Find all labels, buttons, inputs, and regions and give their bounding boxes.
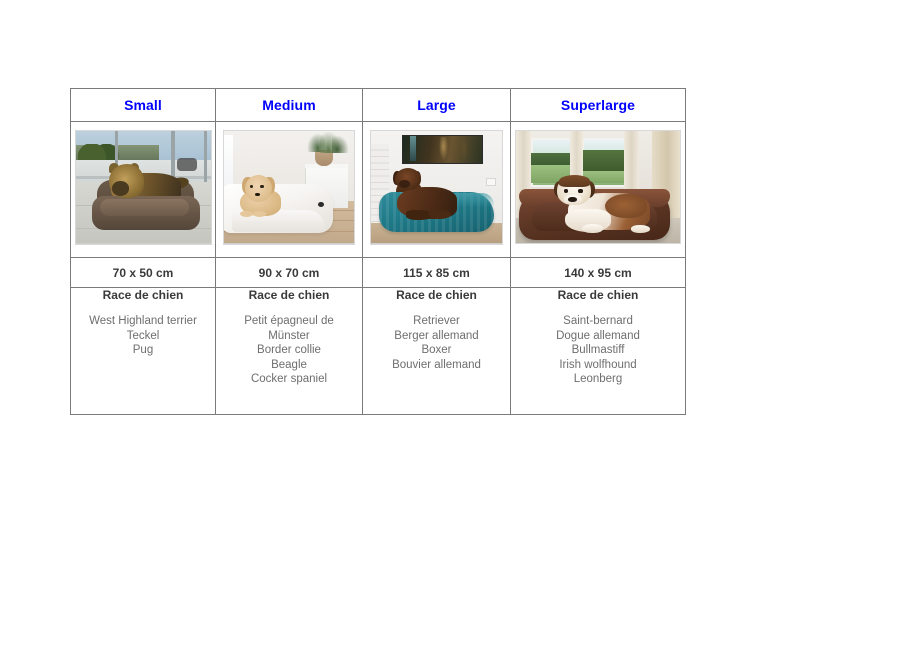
breed-list: RetrieverBerger allemandBoxerBouvier all… xyxy=(363,314,510,372)
breed-item: Border collie xyxy=(216,343,362,358)
breed-title: Race de chien xyxy=(511,288,685,302)
header-cell-medium: Medium xyxy=(216,89,363,122)
table-photo-row xyxy=(71,122,686,258)
dimension-cell-superlarge: 140 x 95 cm xyxy=(511,258,686,288)
dimension-label: 90 x 70 cm xyxy=(216,266,362,280)
header-cell-superlarge: Superlarge xyxy=(511,89,686,122)
table-dimension-row: 70 x 50 cm 90 x 70 cm 115 x 85 cm 140 x … xyxy=(71,258,686,288)
photo-cell-large xyxy=(363,122,511,258)
medium-dog-bed-photo xyxy=(223,130,355,245)
breed-cell-large: Race de chien RetrieverBerger allemandBo… xyxy=(363,288,511,415)
breed-item: Pug xyxy=(71,343,215,358)
dimension-cell-large: 115 x 85 cm xyxy=(363,258,511,288)
breed-item: Irish wolfhound xyxy=(511,358,685,373)
breed-list: Saint-bernardDogue allemandBullmastiffIr… xyxy=(511,314,685,387)
breed-title: Race de chien xyxy=(363,288,510,302)
breed-item: Saint-bernard xyxy=(511,314,685,329)
breed-cell-superlarge: Race de chien Saint-bernardDogue alleman… xyxy=(511,288,686,415)
dimension-cell-small: 70 x 50 cm xyxy=(71,258,216,288)
breed-item: West Highland terrier xyxy=(71,314,215,329)
large-dog-bed-photo xyxy=(370,130,503,245)
size-header-label: Small xyxy=(71,97,215,113)
breed-title: Race de chien xyxy=(216,288,362,302)
breed-cell-medium: Race de chien Petit épagneul de MünsterB… xyxy=(216,288,363,415)
breed-title: Race de chien xyxy=(71,288,215,302)
breed-list: Petit épagneul de MünsterBorder collieBe… xyxy=(216,314,362,387)
dimension-label: 70 x 50 cm xyxy=(71,266,215,280)
size-header-label: Medium xyxy=(216,97,362,113)
table-breed-row: Race de chien West Highland terrierTecke… xyxy=(71,288,686,415)
breed-item: Petit épagneul de Münster xyxy=(216,314,362,343)
breed-cell-small: Race de chien West Highland terrierTecke… xyxy=(71,288,216,415)
breed-item: Retriever xyxy=(363,314,510,329)
photo-cell-medium xyxy=(216,122,363,258)
breed-item: Boxer xyxy=(363,343,510,358)
photo-cell-small xyxy=(71,122,216,258)
small-dog-bed-photo xyxy=(75,130,212,245)
breed-item: Leonberg xyxy=(511,372,685,387)
dimension-label: 140 x 95 cm xyxy=(511,266,685,280)
breed-item: Cocker spaniel xyxy=(216,372,362,387)
dimension-label: 115 x 85 cm xyxy=(363,266,510,280)
size-header-label: Large xyxy=(363,97,510,113)
superlarge-dog-bed-photo xyxy=(515,130,681,244)
breed-item: Dogue allemand xyxy=(511,329,685,344)
size-header-label: Superlarge xyxy=(511,97,685,113)
breed-item: Beagle xyxy=(216,358,362,373)
breed-list: West Highland terrierTeckelPug xyxy=(71,314,215,358)
header-cell-small: Small xyxy=(71,89,216,122)
photo-cell-superlarge xyxy=(511,122,686,258)
table-header-row: Small Medium Large Superlarge xyxy=(71,89,686,122)
dimension-cell-medium: 90 x 70 cm xyxy=(216,258,363,288)
breed-item: Bouvier allemand xyxy=(363,358,510,373)
header-cell-large: Large xyxy=(363,89,511,122)
breed-item: Bullmastiff xyxy=(511,343,685,358)
breed-item: Berger allemand xyxy=(363,329,510,344)
breed-item: Teckel xyxy=(71,329,215,344)
dog-bed-size-table: Small Medium Large Superlarge xyxy=(70,88,686,415)
